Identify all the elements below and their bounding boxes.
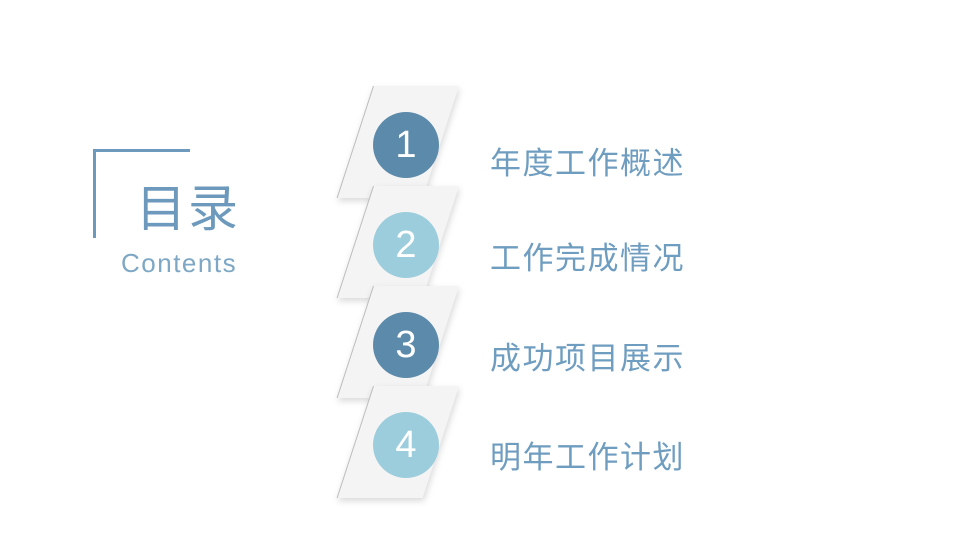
agenda-number-circle-1[interactable]: 1 xyxy=(373,112,439,178)
agenda-number-column: 1 2 3 4 xyxy=(365,86,475,540)
agenda-item-label-3[interactable]: 成功项目展示 xyxy=(490,341,685,377)
agenda-item-label-4[interactable]: 明年工作计划 xyxy=(490,440,685,476)
agenda-number-circle-4[interactable]: 4 xyxy=(373,412,439,478)
agenda-item-label-2[interactable]: 工作完成情况 xyxy=(490,241,685,277)
agenda-entry-marker-3[interactable]: 3 xyxy=(365,286,475,386)
agenda-entry-marker-2[interactable]: 2 xyxy=(365,186,475,286)
agenda-number-circle-2[interactable]: 2 xyxy=(373,212,439,278)
presentation-slide: 目录 Contents 1 2 3 4 年度工作概述 工作完成情况 成功项目展示… xyxy=(0,0,960,540)
agenda-number-circle-3[interactable]: 3 xyxy=(373,312,439,378)
agenda-entry-marker-1[interactable]: 1 xyxy=(365,86,475,186)
page-title: 目录 xyxy=(136,180,240,238)
page-subtitle: Contents xyxy=(121,248,237,278)
agenda-item-label-1[interactable]: 年度工作概述 xyxy=(490,146,685,182)
title-block: 目录 Contents xyxy=(93,149,343,299)
agenda-entry-marker-4[interactable]: 4 xyxy=(365,386,475,486)
